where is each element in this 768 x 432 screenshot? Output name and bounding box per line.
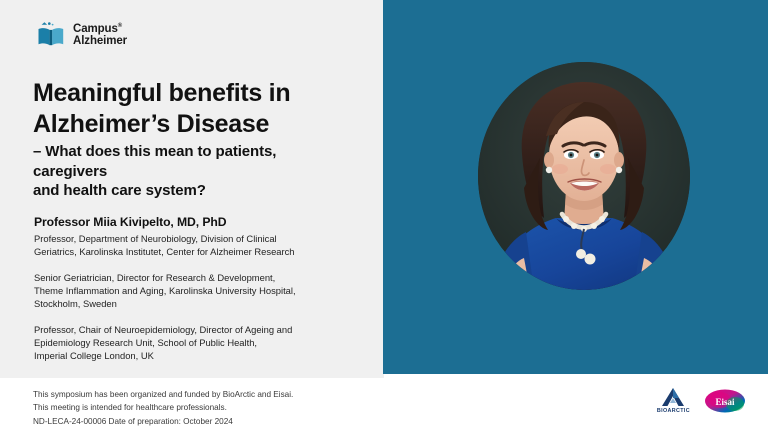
speaker-block: Professor Miia Kivipelto, MD, PhD Profes… — [34, 215, 374, 363]
speaker-name: Professor Miia Kivipelto, MD, PhD — [34, 215, 374, 229]
campus-alzheimer-logo: Campus® Alzheimer — [36, 20, 127, 50]
bioarctic-mountain-icon — [660, 387, 686, 407]
sponsor-logos: BIOARCTIC Eisai — [657, 387, 746, 414]
affiliation-line: Senior Geriatrician, Director for Resear… — [34, 271, 374, 284]
eisai-wordmark: Eisai — [715, 397, 735, 407]
affiliation-line: Theme Inflammation and Aging, Karolinska… — [34, 284, 374, 297]
affiliation-line: Geriatrics, Karolinska Institutet, Cente… — [34, 245, 374, 258]
speaker-portrait — [478, 62, 690, 290]
affiliation-line: Epidemiology Research Unit, School of Pu… — [34, 336, 374, 349]
title-line-1: Meaningful benefits in — [33, 78, 373, 109]
open-book-icon — [36, 20, 66, 50]
title-line-2: Alzheimer’s Disease — [33, 109, 373, 140]
bioarctic-logo: BIOARCTIC — [657, 387, 690, 414]
page-subtitle: – What does this mean to patients, careg… — [33, 142, 373, 201]
footer-line-2: This meeting is intended for healthcare … — [33, 401, 293, 414]
affiliation-line: Professor, Chair of Neuroepidemiology, D… — [34, 323, 374, 336]
affiliation-line: Imperial College London, UK — [34, 349, 374, 362]
subtitle-line-2: caregivers — [33, 162, 373, 182]
speaker-affiliation-3: Professor, Chair of Neuroepidemiology, D… — [34, 323, 374, 363]
subtitle-line-3: and health care system? — [33, 181, 373, 201]
logo-wordmark: Campus® Alzheimer — [73, 23, 127, 48]
left-content-panel: Campus® Alzheimer Meaningful benefits in… — [0, 0, 384, 378]
footer-line-3: ND-LECA-24-00006 Date of preparation: Oc… — [33, 415, 293, 428]
presentation-slide: Campus® Alzheimer Meaningful benefits in… — [0, 0, 768, 432]
speaker-affiliation-2: Senior Geriatrician, Director for Resear… — [34, 271, 374, 311]
footer-line-1: This symposium has been organized and fu… — [33, 388, 293, 401]
portrait-panel — [383, 0, 768, 374]
page-title: Meaningful benefits in Alzheimer’s Disea… — [33, 78, 373, 139]
title-block: Meaningful benefits in Alzheimer’s Disea… — [33, 78, 373, 201]
subtitle-line-1: – What does this mean to patients, — [33, 142, 373, 162]
speaker-affiliation-1: Professor, Department of Neurobiology, D… — [34, 232, 374, 259]
eisai-logo: Eisai — [704, 388, 746, 414]
footer-disclaimer: This symposium has been organized and fu… — [33, 388, 293, 428]
affiliation-line: Stockholm, Sweden — [34, 297, 374, 310]
footer-bar: This symposium has been organized and fu… — [0, 378, 768, 432]
portrait-illustration — [478, 62, 690, 290]
bioarctic-wordmark: BIOARCTIC — [657, 408, 690, 414]
affiliation-line: Professor, Department of Neurobiology, D… — [34, 232, 374, 245]
logo-line-campus: Campus® — [73, 23, 127, 35]
registered-trademark-icon: ® — [118, 23, 122, 29]
logo-line-alzheimer: Alzheimer — [73, 35, 127, 47]
